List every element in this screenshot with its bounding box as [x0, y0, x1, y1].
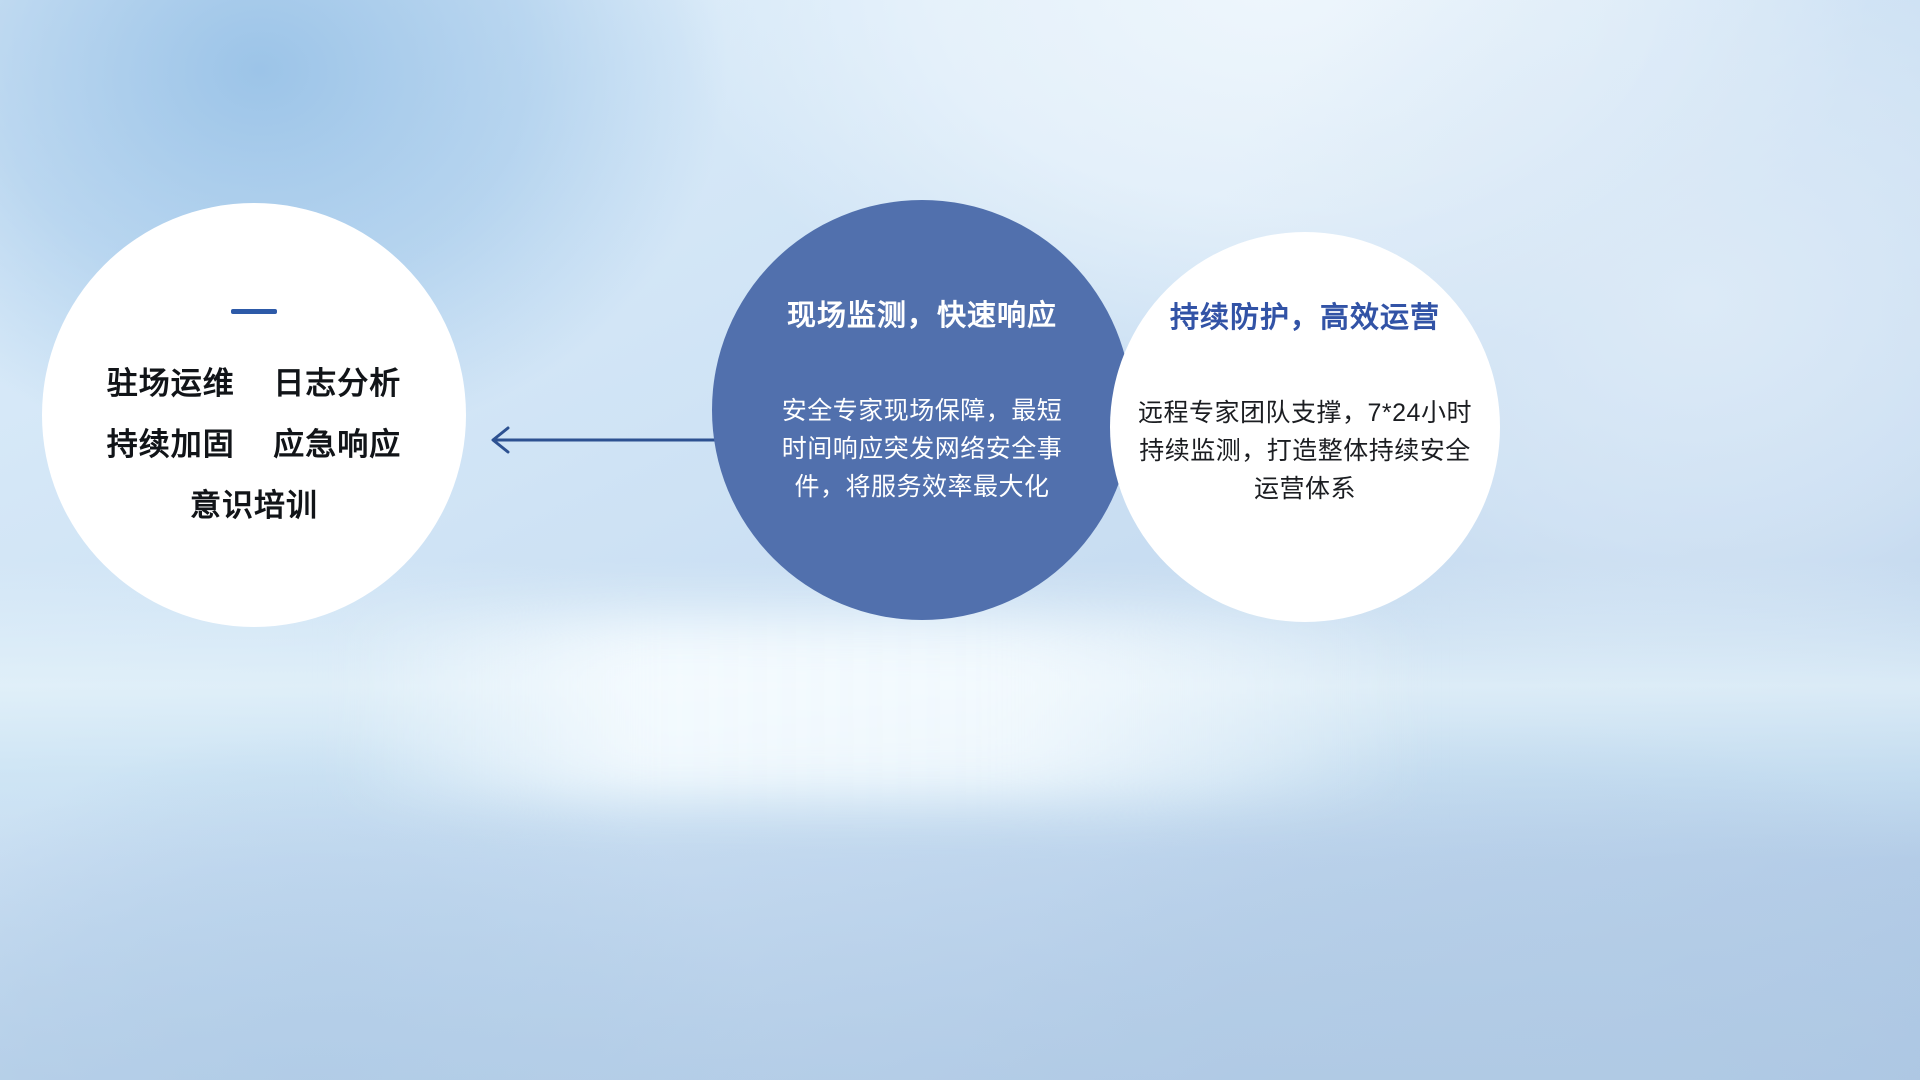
card-title-onsite-monitoring: 现场监测，快速响应 [787, 292, 1057, 334]
divider-dash [231, 309, 277, 314]
capability-line-2: 持续加固 应急响应 [107, 429, 401, 460]
card-continuous-protection[interactable]: 持续防护，高效运营 远程专家团队支撑，7*24小时持续监测，打造整体持续安全运营… [1110, 232, 1500, 622]
capability-list: 驻场运维 日志分析 持续加固 应急响应 意识培训 [107, 368, 401, 521]
three-circle-diagram: 驻场运维 日志分析 持续加固 应急响应 意识培训 现场监测，快速响应 安全专家现… [0, 0, 1920, 1080]
card-body-onsite-monitoring: 安全专家现场保障，最短时间响应突发网络安全事件，将服务效率最大化 [772, 392, 1072, 506]
card-onsite-monitoring[interactable]: 现场监测，快速响应 安全专家现场保障，最短时间响应突发网络安全事件，将服务效率最… [712, 200, 1132, 620]
card-title-continuous-protection: 持续防护，高效运营 [1170, 294, 1440, 336]
card-onsite-capabilities[interactable]: 驻场运维 日志分析 持续加固 应急响应 意识培训 [42, 203, 466, 627]
capability-line-1: 驻场运维 日志分析 [107, 368, 401, 399]
connector-arrow-left-icon [480, 418, 720, 462]
card-body-continuous-protection: 远程专家团队支撑，7*24小时持续监测，打造整体持续安全运营体系 [1130, 394, 1480, 508]
capability-line-3: 意识培训 [107, 490, 401, 521]
